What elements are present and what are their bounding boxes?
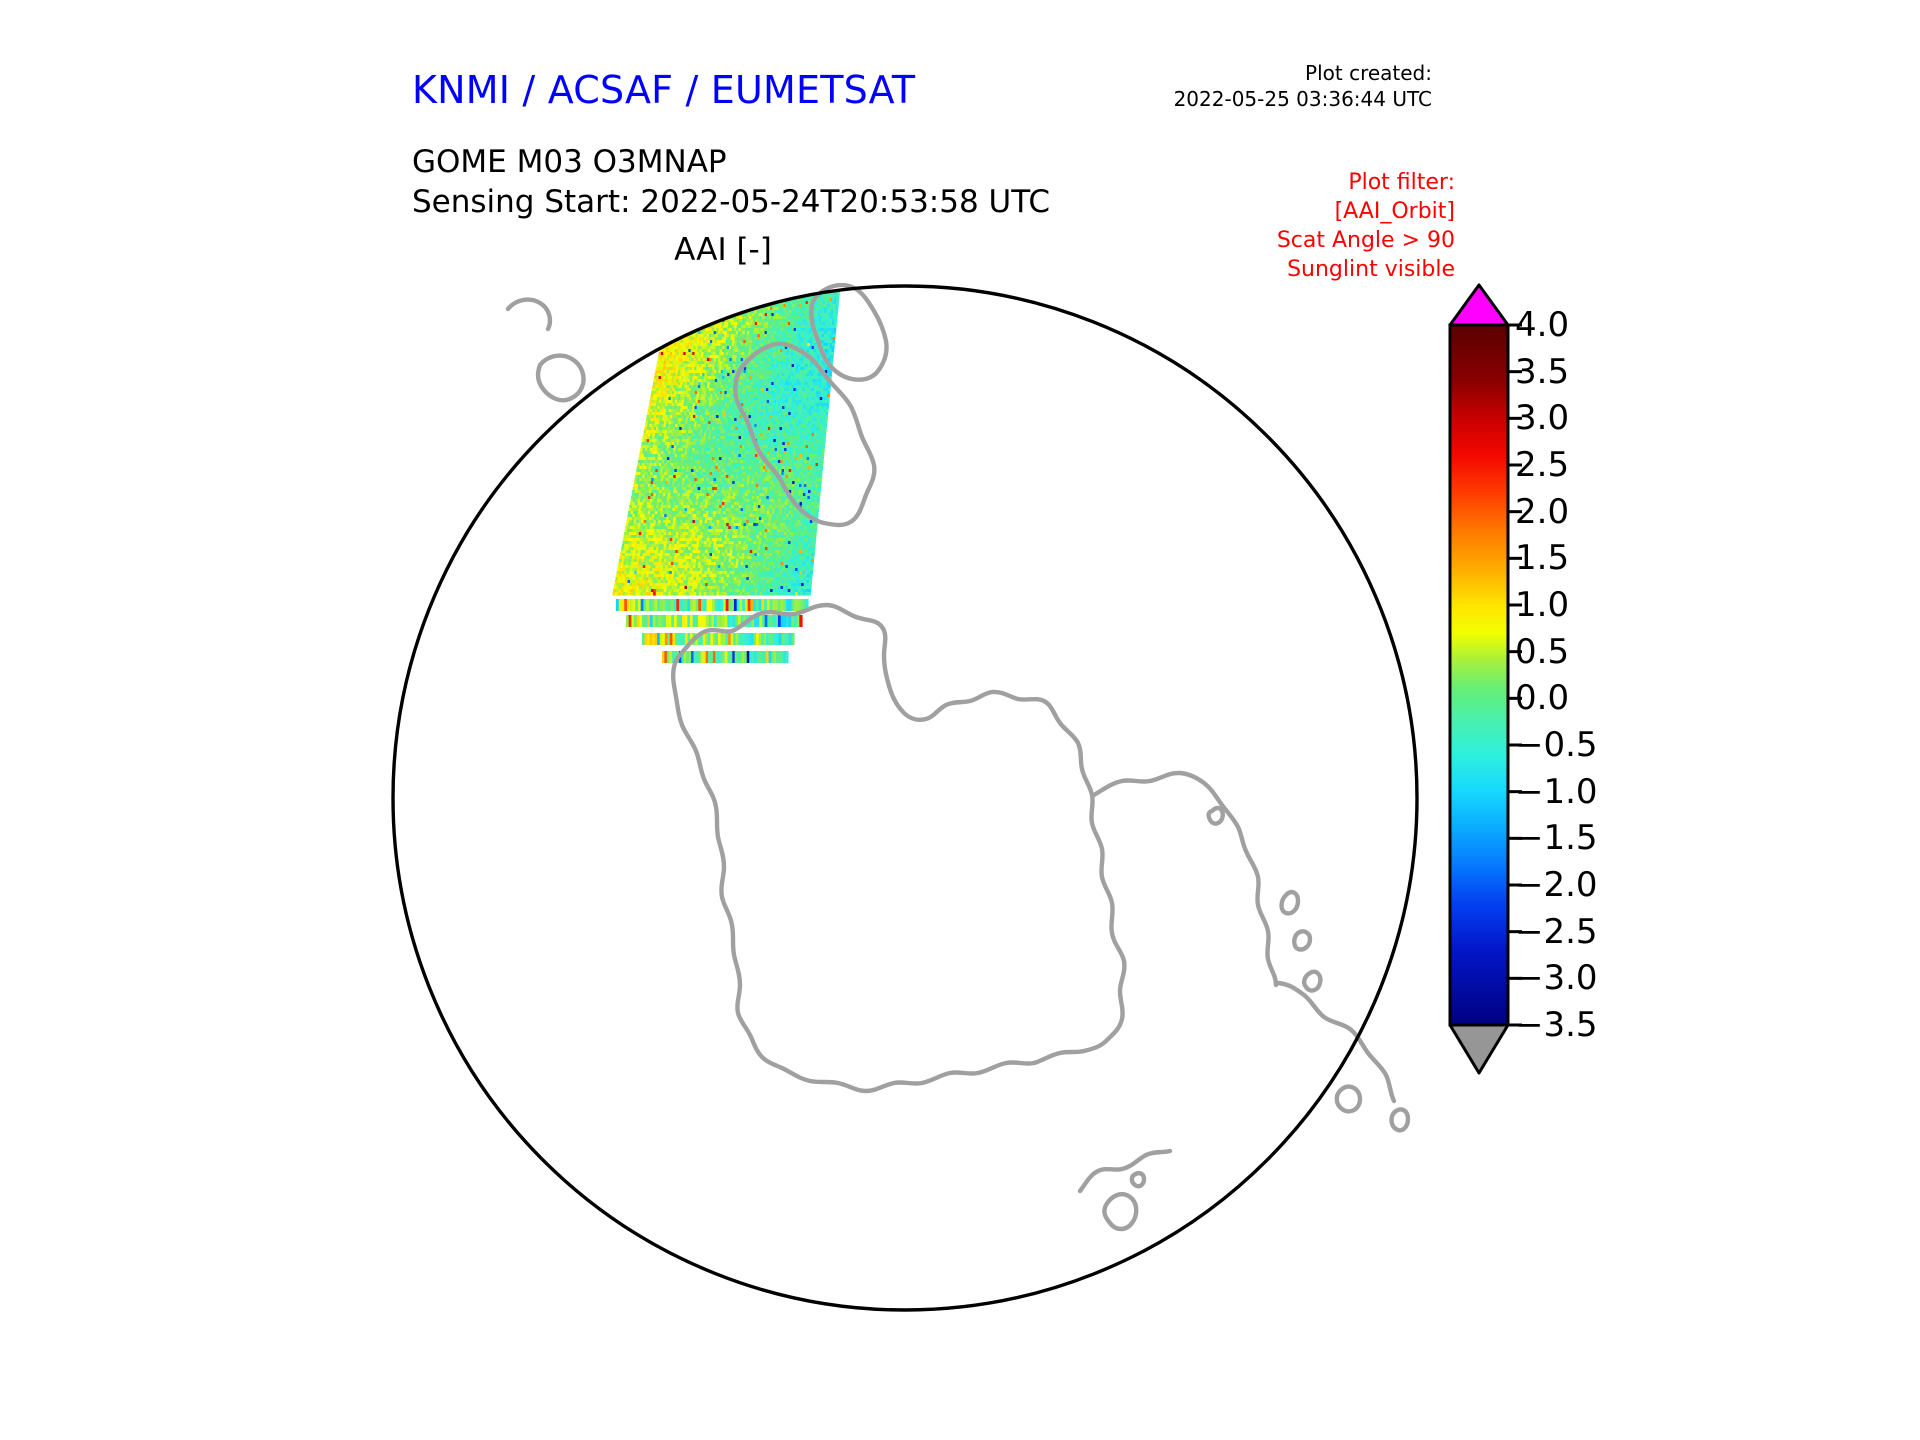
swath-pixel <box>778 295 781 299</box>
swath-pixel <box>674 328 677 332</box>
swath-pixel <box>687 322 690 326</box>
swath-pixel <box>691 283 694 287</box>
swath-pixel <box>684 298 687 302</box>
swath-pixel <box>794 286 797 290</box>
swath-pixel <box>700 310 703 314</box>
swath-pixel <box>697 289 700 293</box>
swath-pixel <box>718 292 721 296</box>
swath-pixel <box>710 289 713 293</box>
swath-pixel <box>737 292 740 296</box>
swath-pixel <box>686 313 689 317</box>
swath-pixel <box>708 310 711 314</box>
swath-pixel <box>718 289 721 293</box>
swath-pixel <box>760 301 763 305</box>
swath-pixel <box>760 298 763 302</box>
swath-pixel <box>697 298 700 302</box>
swath-pixel <box>699 301 702 305</box>
swath-pixel <box>801 283 804 287</box>
swath-pixel <box>672 304 675 308</box>
swath-pixel <box>775 283 778 287</box>
swath-pixel <box>704 283 707 287</box>
swath-pixel <box>823 283 826 287</box>
swath-pixel <box>731 292 734 296</box>
swath-pixel <box>758 283 761 287</box>
swath-pixel <box>670 295 673 299</box>
swath-pixel <box>708 313 711 317</box>
swath-pixel <box>693 322 696 326</box>
swath-pixel <box>668 304 671 308</box>
swath-pixel <box>714 316 717 320</box>
swath-pixel <box>786 286 789 290</box>
swath-pixel <box>692 301 695 305</box>
swath-pixel <box>743 283 746 287</box>
swath-pixel <box>716 304 719 308</box>
swath-pixel <box>691 322 694 326</box>
swath-pixel <box>726 310 729 314</box>
swath-pixel <box>679 289 682 293</box>
swath-pixel <box>713 307 716 311</box>
swath-pixel <box>664 337 667 341</box>
swath-pixel <box>682 325 685 329</box>
swath-pixel <box>701 304 704 308</box>
swath-pixel <box>712 313 715 317</box>
swath-pixel <box>701 313 704 317</box>
swath-pixel <box>731 289 734 293</box>
swath-pixel <box>689 283 692 287</box>
swath-pixel <box>691 319 694 323</box>
swath-pixel <box>749 301 752 305</box>
swath-pixel <box>685 295 688 299</box>
swath-pixel <box>673 322 676 326</box>
swath-pixel <box>747 286 750 290</box>
swath-pixel <box>772 289 775 293</box>
swath-pixel <box>682 286 685 290</box>
swath-pixel <box>740 292 743 296</box>
swath-pixel <box>672 307 675 311</box>
swath-pixel <box>739 307 742 311</box>
swath-pixel <box>728 283 731 287</box>
swath-pixel <box>751 301 754 305</box>
swath-pixel <box>694 307 697 311</box>
swath-pixel <box>676 310 679 314</box>
swath-pixel <box>790 289 793 293</box>
swath-pixel <box>684 286 687 290</box>
swath-pixel <box>691 286 694 290</box>
swath-pixel <box>675 289 678 293</box>
swath-pixel <box>716 292 719 296</box>
swath-pixel <box>779 292 782 296</box>
swath-pixel <box>750 295 753 299</box>
swath-pixel <box>695 313 698 317</box>
swath-pixel <box>663 328 666 332</box>
swath-pixel <box>702 283 705 287</box>
swath-pixel <box>684 322 687 326</box>
swath-pixel <box>810 283 813 287</box>
swath-pixel <box>781 292 784 296</box>
swath-pixel <box>681 292 684 296</box>
swath-pixel <box>672 319 675 323</box>
swath-pixel <box>688 304 691 308</box>
swath-pixel <box>711 292 714 296</box>
swath-pixel <box>707 304 710 308</box>
swath-pixel <box>667 307 670 311</box>
swath-pixel <box>692 316 695 320</box>
swath-pixel <box>684 325 687 329</box>
swath-pixel <box>781 286 784 290</box>
swath-pixel <box>745 283 748 287</box>
swath-pixel <box>677 304 680 308</box>
swath-pixel <box>772 295 775 299</box>
swath-pixel <box>702 310 705 314</box>
swath-pixel <box>737 283 740 287</box>
swath-pixel <box>714 304 717 308</box>
swath-pixel <box>702 295 705 299</box>
swath-pixel <box>763 295 766 299</box>
swath-pixel <box>677 325 680 329</box>
swath-pixel <box>762 286 765 290</box>
swath-pixel <box>671 310 674 314</box>
polar-map <box>390 283 1420 1313</box>
swath-pixel <box>694 304 697 308</box>
swath-pixel <box>691 295 694 299</box>
swath-pixel <box>671 325 674 329</box>
swath-pixel <box>779 286 782 290</box>
swath-pixel <box>674 286 677 290</box>
swath-pixel <box>799 283 802 287</box>
swath-pixel <box>664 334 667 338</box>
swath-pixel <box>678 322 681 326</box>
swath-pixel <box>726 283 729 287</box>
swath-pixel <box>712 286 715 290</box>
swath-pixel <box>684 310 687 314</box>
swath-pixel <box>728 310 731 314</box>
swath-pixel <box>700 322 703 326</box>
swath-pixel <box>750 283 753 287</box>
swath-pixel <box>700 307 703 311</box>
swath-pixel <box>726 298 729 302</box>
swath-pixel <box>667 322 670 326</box>
swath-pixel <box>694 316 697 320</box>
swath-pixel <box>694 295 697 299</box>
swath-pixel <box>676 307 679 311</box>
swath-pixel <box>669 310 672 314</box>
swath-pixel <box>751 304 754 308</box>
swath-pixel <box>678 319 681 323</box>
swath-pixel <box>753 292 756 296</box>
swath-pixel <box>696 304 699 308</box>
swath-pixel <box>715 298 718 302</box>
swath-pixel <box>722 292 725 296</box>
swath-pixel <box>694 319 697 323</box>
swath-pixel <box>715 286 718 290</box>
swath-pixel <box>768 292 771 296</box>
swath-pixel <box>805 289 808 293</box>
swath-pixel <box>707 307 710 311</box>
swath-pixel <box>735 292 738 296</box>
swath-pixel <box>761 292 764 296</box>
swath-pixel <box>668 316 671 320</box>
swath-pixel <box>742 292 745 296</box>
swath-pixel <box>749 286 752 290</box>
swath-pixel <box>751 286 754 290</box>
swath-pixel <box>725 289 728 293</box>
swath-pixel <box>693 298 696 302</box>
swath-pixel <box>688 301 691 305</box>
swath-pixel <box>727 304 730 308</box>
swath-pixel <box>665 319 668 323</box>
swath-pixel <box>776 292 779 296</box>
swath-pixel <box>723 289 726 293</box>
swath-pixel <box>769 286 772 290</box>
swath-pixel <box>690 313 693 317</box>
swath-pixel <box>759 292 762 296</box>
swath-pixel <box>678 286 681 290</box>
swath-pixel <box>666 328 669 332</box>
swath-pixel <box>767 298 770 302</box>
swath-pixel <box>719 286 722 290</box>
swath-pixel <box>685 316 688 320</box>
swath-pixel <box>706 298 709 302</box>
swath-pixel <box>724 310 727 314</box>
swath-pixel <box>772 292 775 296</box>
swath-pixel <box>688 289 691 293</box>
swath-pixel <box>756 301 759 305</box>
swath-pixel <box>698 292 701 296</box>
swath-pixel <box>681 295 684 299</box>
swath-pixel <box>706 310 709 314</box>
swath-pixel <box>690 301 693 305</box>
plot-created-time: 2022-05-25 03:36:44 UTC <box>1174 86 1432 112</box>
swath-pixel <box>752 298 755 302</box>
swath-pixel <box>762 289 765 293</box>
swath-pixel <box>701 301 704 305</box>
swath-pixel <box>760 283 763 287</box>
swath-pixel <box>715 283 718 287</box>
swath-pixel <box>716 316 719 320</box>
swath-pixel <box>732 298 735 302</box>
swath-pixel <box>715 307 718 311</box>
swath-pixel <box>714 289 717 293</box>
swath-pixel <box>674 295 677 299</box>
swath-pixel <box>662 337 665 341</box>
swath-pixel <box>696 307 699 311</box>
swath-pixel <box>808 283 811 287</box>
swath-pixel <box>789 292 792 296</box>
swath-pixel <box>711 310 714 314</box>
swath-pixel <box>709 295 712 299</box>
swath-pixel <box>732 286 735 290</box>
swath-pixel <box>773 286 776 290</box>
swath-pixel <box>757 289 760 293</box>
swath-pixel <box>713 310 716 314</box>
swath-pixel <box>706 313 709 317</box>
swath-pixel <box>803 286 806 290</box>
swath-pixel <box>672 292 675 296</box>
swath-pixel <box>698 307 701 311</box>
swath-pixel <box>711 295 714 299</box>
swath-pixel <box>671 289 674 293</box>
swath-pixel <box>733 304 736 308</box>
swath-pixel <box>785 292 788 296</box>
swath-pixel <box>688 292 691 296</box>
swath-pixel <box>690 325 693 329</box>
swath-pixel <box>683 292 686 296</box>
swath-pixel <box>717 298 720 302</box>
swath-pixel <box>771 283 774 287</box>
swath-pixel <box>682 298 685 302</box>
swath-pixel <box>756 286 759 290</box>
swath-pixel <box>682 289 685 293</box>
swath-pixel <box>707 295 710 299</box>
swath-pixel <box>788 289 791 293</box>
swath-pixel <box>688 325 691 329</box>
swath-pixel <box>685 304 688 308</box>
swath-pixel <box>774 295 777 299</box>
swath-pixel <box>747 301 750 305</box>
swath-pixel <box>685 307 688 311</box>
swath-pixel <box>767 283 770 287</box>
swath-pixel <box>753 289 756 293</box>
swath-pixel <box>668 313 671 317</box>
swath-pixel <box>672 283 675 287</box>
swath-pixel <box>754 298 757 302</box>
swath-pixel <box>752 283 755 287</box>
swath-pixel <box>669 298 672 302</box>
swath-pixel <box>745 286 748 290</box>
swath-pixel <box>818 283 821 287</box>
swath-pixel <box>700 319 703 323</box>
swath-pixel <box>816 283 819 287</box>
plot-created-label: Plot created: <box>1174 60 1432 86</box>
swath-pixel <box>676 322 679 326</box>
swath-pixel <box>695 310 698 314</box>
swath-pixel <box>671 334 674 338</box>
swath-pixel <box>709 292 712 296</box>
swath-pixel <box>673 325 676 329</box>
swath-pixel <box>748 292 751 296</box>
swath-pixel <box>722 307 725 311</box>
swath-pixel <box>756 283 759 287</box>
swath-pixel <box>765 283 768 287</box>
swath-pixel <box>720 307 723 311</box>
swath-pixel <box>719 301 722 305</box>
swath-pixel <box>696 292 699 296</box>
swath-pixel <box>685 292 688 296</box>
swath-pixel <box>724 307 727 311</box>
swath-pixel <box>738 301 741 305</box>
swath-pixel <box>717 295 720 299</box>
swath-pixel <box>695 286 698 290</box>
swath-pixel <box>676 295 679 299</box>
swath-pixel <box>739 298 742 302</box>
swath-pixel <box>691 298 694 302</box>
swath-pixel <box>735 307 738 311</box>
swath-pixel <box>666 325 669 329</box>
swath-pixel <box>732 310 735 314</box>
swath-pixel <box>803 283 806 287</box>
swath-pixel <box>794 289 797 293</box>
swath-pixel <box>790 283 793 287</box>
swath-pixel <box>705 319 708 323</box>
swath-pixel <box>763 298 766 302</box>
swath-pixel <box>700 283 703 287</box>
swath-pixel <box>721 310 724 314</box>
plot-created-block: Plot created: 2022-05-25 03:36:44 UTC <box>1174 60 1432 112</box>
swath-pixel <box>777 286 780 290</box>
swath-pixel <box>782 283 785 287</box>
swath-pixel <box>701 292 704 296</box>
swath-pixel <box>755 289 758 293</box>
swath-pixel <box>708 289 711 293</box>
swath-pixel <box>762 283 765 287</box>
swath-pixel <box>703 292 706 296</box>
swath-pixel <box>786 283 789 287</box>
swath-pixel <box>783 289 786 293</box>
swath-pixel <box>720 292 723 296</box>
swath-pixel <box>703 313 706 317</box>
swath-pixel <box>675 301 678 305</box>
swath-pixel <box>755 292 758 296</box>
swath-pixel <box>765 295 768 299</box>
swath-pixel <box>678 310 681 314</box>
swath-pixel <box>718 307 721 311</box>
swath-pixel <box>739 283 742 287</box>
swath-pixel <box>764 289 767 293</box>
swath-pixel <box>737 307 740 311</box>
swath-pixel <box>726 295 729 299</box>
swath-pixel <box>729 307 732 311</box>
swath-pixel <box>743 295 746 299</box>
swath-pixel <box>798 289 801 293</box>
swath-pixel <box>698 322 701 326</box>
swath-pixel <box>671 313 674 317</box>
instrument-line: GOME M03 O3MNAP <box>412 142 1050 182</box>
swath-pixel <box>695 325 698 329</box>
swath-pixel <box>673 310 676 314</box>
swath-pixel <box>716 289 719 293</box>
swath-pixel <box>708 286 711 290</box>
swath-pixel <box>709 283 712 287</box>
swath-pixel <box>744 304 747 308</box>
swath-pixel <box>746 304 749 308</box>
plot-filter-block: Plot filter: [AAI_Orbit] Scat Angle > 90… <box>1277 168 1455 284</box>
swath-pixel <box>776 295 779 299</box>
swath-pixel <box>740 304 743 308</box>
swath-pixel <box>713 283 716 287</box>
swath-pixel <box>733 307 736 311</box>
swath-pixel <box>690 289 693 293</box>
swath-pixel <box>688 316 691 320</box>
swath-pixel <box>801 289 804 293</box>
swath-pixel <box>727 301 730 305</box>
swath-pixel <box>677 292 680 296</box>
swath-pixel <box>787 292 790 296</box>
swath-pixel <box>666 316 669 320</box>
swath-pixel <box>736 286 739 290</box>
swath-pixel <box>687 286 690 290</box>
swath-pixel <box>717 283 720 287</box>
swath-pixel <box>697 310 700 314</box>
organisation-title: KNMI / ACSAF / EUMETSAT <box>412 68 915 112</box>
swath-pixel <box>665 331 668 335</box>
swath-pixel <box>742 304 745 308</box>
swath-pixel <box>801 286 804 290</box>
swath-pixel <box>773 283 776 287</box>
swath-pixel <box>677 289 680 293</box>
swath-pixel <box>741 298 744 302</box>
swath-pixel <box>667 334 670 338</box>
swath-pixel <box>686 310 689 314</box>
